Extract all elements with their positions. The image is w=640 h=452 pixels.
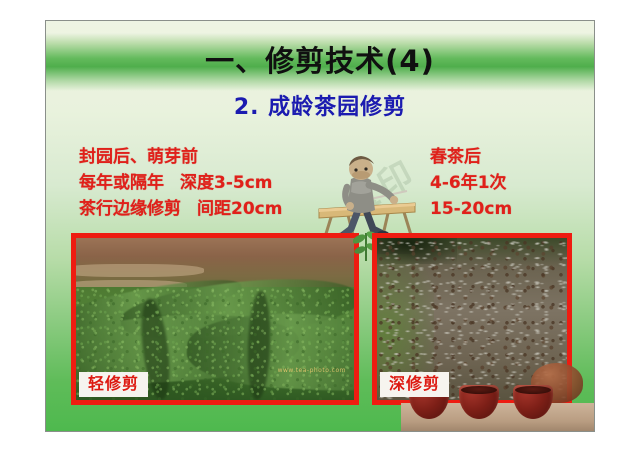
left-text-column: 封园后、萌芽前 每年或隔年深度3-5cm 茶行边缘修剪间距20cm <box>79 144 282 222</box>
left-row-1-part-1: 封园后、萌芽前 <box>79 147 198 167</box>
right-text-row-3: 15-20cm <box>430 196 512 222</box>
right-text-column: 春茶后 4-6年1次 15-20cm <box>430 144 512 222</box>
left-row-2-part-2: 深度3-5cm <box>180 173 273 193</box>
screenshot-root: 一、修剪技术(4) 2. 成龄茶园修剪 宝印 封园后、萌芽前 每年或隔年深度3-… <box>0 0 640 452</box>
right-text-row-2: 4-6年1次 <box>430 170 512 196</box>
right-text-row-1: 春茶后 <box>430 144 512 170</box>
left-text-row-1: 封园后、萌芽前 <box>79 144 282 170</box>
photo-caption-light-pruning: 轻修剪 <box>79 372 148 397</box>
slide-subtitle: 2. 成龄茶园修剪 <box>46 94 594 122</box>
photo-credit: www.tea-photo.com <box>278 367 346 374</box>
worker-on-bench-icon <box>311 153 421 245</box>
photo-light-pruning: www.tea-photo.com 轻修剪 <box>71 233 359 405</box>
terrace-line-1 <box>76 264 204 277</box>
pruning-worker-illustration <box>311 153 421 245</box>
photo-caption-deep-pruning: 深修剪 <box>380 372 449 397</box>
left-row-3-part-2: 间距20cm <box>197 199 282 219</box>
left-text-row-2: 每年或隔年深度3-5cm <box>79 170 282 196</box>
left-row-3-part-1: 茶行边缘修剪 <box>79 199 181 219</box>
presentation-slide: 一、修剪技术(4) 2. 成龄茶园修剪 宝印 封园后、萌芽前 每年或隔年深度3-… <box>45 20 595 432</box>
left-row-2-part-1: 每年或隔年 <box>79 173 164 193</box>
left-text-row-3: 茶行边缘修剪间距20cm <box>79 196 282 222</box>
page-title: 一、修剪技术(4) <box>46 43 594 79</box>
